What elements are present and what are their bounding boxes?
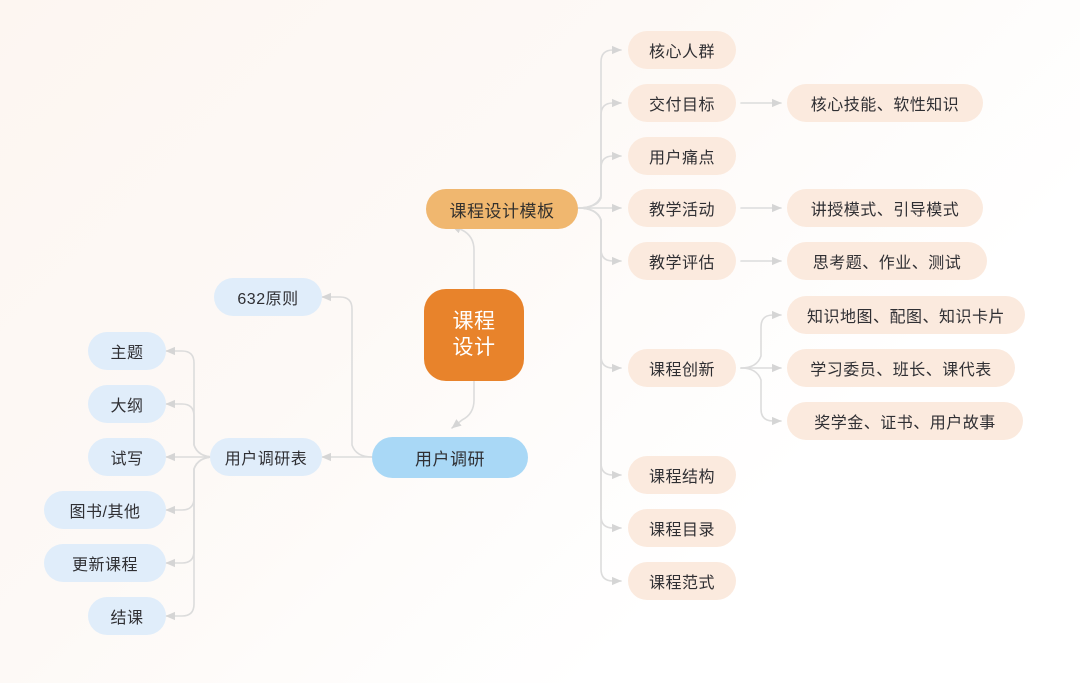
node-innovation-detail-2[interactable]: 学习委员、班长、课代表 (787, 349, 1015, 387)
node-delivery-goal[interactable]: 交付目标 (628, 84, 736, 122)
edge-template-c8 (578, 208, 621, 581)
node-core-line1: 课程 (453, 309, 496, 335)
node-course-catalog[interactable]: 课程目录 (628, 509, 736, 547)
edge-core-survey (452, 381, 474, 428)
node-core-audience[interactable]: 核心人群 (628, 31, 736, 69)
node-core-line2: 设计 (453, 335, 496, 361)
node-core[interactable]: 课程 设计 (424, 289, 524, 381)
edge-core-template (452, 226, 474, 289)
edge-c5-s0 (741, 315, 781, 368)
edge-survey-632 (322, 297, 372, 457)
node-user-survey[interactable]: 用户调研 (372, 437, 528, 478)
node-innovation-detail-1[interactable]: 知识地图、配图、知识卡片 (787, 296, 1025, 334)
edge-c5-s2 (741, 368, 781, 421)
node-principle-632[interactable]: 632原则 (214, 278, 322, 316)
edge-form-l4 (166, 457, 214, 563)
edge-template-c1 (578, 103, 621, 208)
node-survey-topic[interactable]: 主题 (88, 332, 166, 370)
edge-template-c5 (578, 208, 621, 368)
node-course-design-template[interactable]: 课程设计模板 (426, 189, 578, 229)
node-teaching-evaluation-detail[interactable]: 思考题、作业、测试 (787, 242, 987, 280)
node-survey-trial-write[interactable]: 试写 (88, 438, 166, 476)
node-course-paradigm[interactable]: 课程范式 (628, 562, 736, 600)
node-course-innovation[interactable]: 课程创新 (628, 349, 736, 387)
edge-form-l1 (166, 404, 214, 457)
node-course-structure[interactable]: 课程结构 (628, 456, 736, 494)
edge-form-l5 (166, 457, 214, 616)
node-user-painpoint[interactable]: 用户痛点 (628, 137, 736, 175)
node-survey-finish-class[interactable]: 结课 (88, 597, 166, 635)
edge-template-c7 (578, 208, 621, 528)
node-teaching-activity[interactable]: 教学活动 (628, 189, 736, 227)
edge-template-c4 (578, 208, 621, 261)
edge-template-c6 (578, 208, 621, 475)
node-survey-outline[interactable]: 大纲 (88, 385, 166, 423)
node-teaching-activity-detail[interactable]: 讲授模式、引导模式 (787, 189, 983, 227)
edge-template-c0 (578, 50, 621, 208)
node-user-survey-form[interactable]: 用户调研表 (210, 438, 322, 476)
node-delivery-goal-detail[interactable]: 核心技能、软性知识 (787, 84, 983, 122)
edge-form-l0 (166, 351, 214, 457)
edge-form-l3 (166, 457, 214, 510)
node-survey-update-course[interactable]: 更新课程 (44, 544, 166, 582)
edge-template-c2 (578, 156, 621, 208)
node-innovation-detail-3[interactable]: 奖学金、证书、用户故事 (787, 402, 1023, 440)
node-teaching-evaluation[interactable]: 教学评估 (628, 242, 736, 280)
mindmap-canvas: 课程 设计 课程设计模板 用户调研 核心人群 交付目标 用户痛点 教学活动 教学… (0, 0, 1080, 683)
node-survey-books-other[interactable]: 图书/其他 (44, 491, 166, 529)
